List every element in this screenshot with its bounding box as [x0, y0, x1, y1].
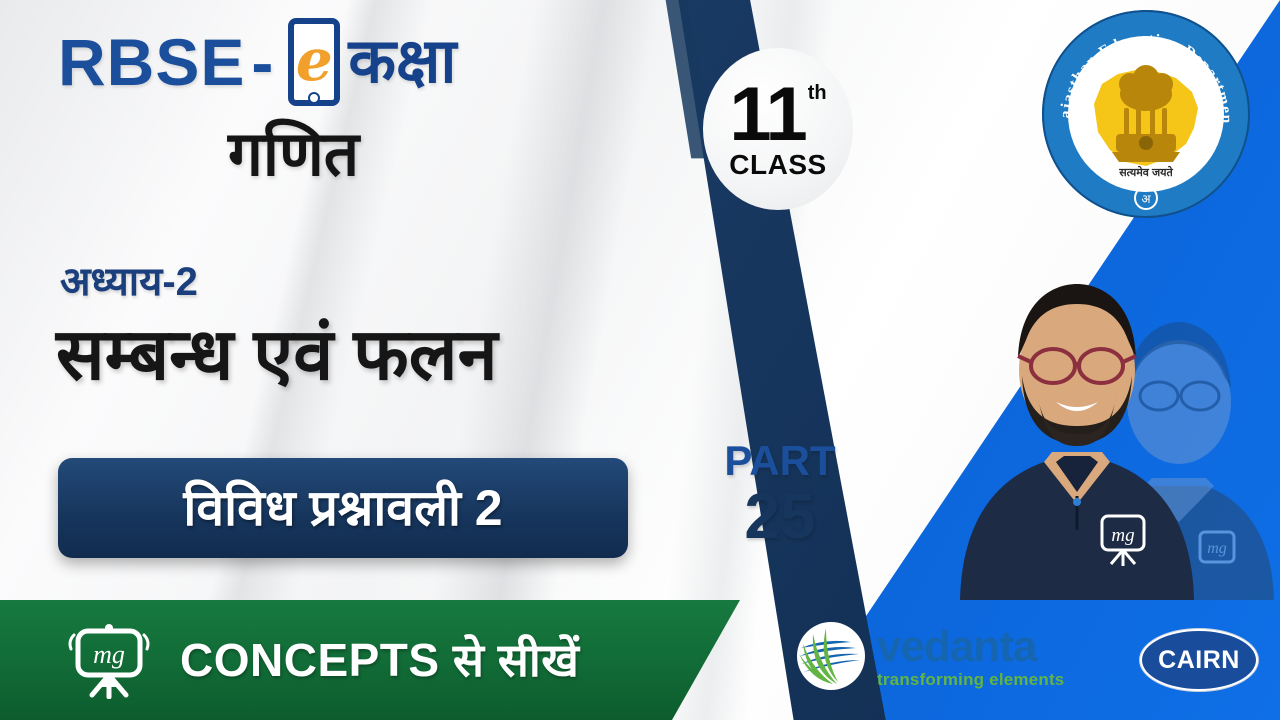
- part-label: PART: [700, 440, 860, 482]
- svg-text:mg: mg: [1111, 525, 1134, 546]
- vedanta-name: vedanta: [877, 625, 1064, 669]
- cairn-logo: CAIRN: [1140, 629, 1258, 691]
- class-word: CLASS: [729, 149, 826, 181]
- footer-tagline-hi: से सीखें: [440, 634, 580, 686]
- instructor-front-photo: mg: [952, 230, 1202, 600]
- mg-logo-text: mg: [93, 640, 125, 669]
- class-ordinal: th: [808, 83, 827, 103]
- vedanta-wordmark: vedanta transforming elements: [877, 625, 1064, 688]
- part-number: 25: [700, 484, 860, 548]
- chapter-number-label: अध्याय-2: [60, 262, 198, 302]
- emblem-svg: सत्यमेव जयते Rajasthan Education Departm…: [1040, 8, 1252, 220]
- smartphone-icon: e: [288, 18, 340, 106]
- thumbnail-canvas: RBSE - e कक्षा गणित अध्याय-2 सम्बन्ध एवं…: [0, 0, 1280, 720]
- exercise-badge-label: विविध प्रश्नावली 2: [183, 483, 502, 533]
- svg-text:mg: mg: [1207, 540, 1227, 557]
- footer-green-bar: mg CONCEPTS से सीखें: [0, 600, 760, 720]
- emblem-bottom-glyph: अ: [1141, 192, 1151, 206]
- footer-tagline: CONCEPTS से सीखें: [180, 637, 579, 683]
- part-indicator: PART 25: [700, 440, 860, 548]
- rajasthan-education-department-emblem: सत्यमेव जयते Rajasthan Education Departm…: [1040, 8, 1252, 220]
- exercise-badge: विविध प्रश्नावली 2: [58, 458, 628, 558]
- footer-tagline-en: CONCEPTS: [180, 634, 440, 686]
- class-number-row: 11 th: [729, 77, 826, 153]
- class-badge: 11 th CLASS: [703, 48, 853, 210]
- chapter-title: सम्बन्ध एवं फलन: [56, 318, 498, 394]
- brand-name-rbse: RBSE: [58, 29, 245, 95]
- instructor-photos: mg: [930, 228, 1280, 600]
- brand-separator: -: [251, 29, 274, 95]
- class-number: 11: [729, 77, 805, 153]
- mg-logo-svg: mg: [62, 621, 158, 699]
- mg-chalkboard-icon: mg: [62, 621, 158, 699]
- phone-letter-e: e: [296, 31, 333, 89]
- cairn-name: CAIRN: [1158, 646, 1240, 675]
- vedanta-logo: vedanta transforming elements: [795, 620, 1064, 692]
- brand-title-row: RBSE - e कक्षा: [58, 18, 457, 106]
- vedanta-globe-icon: [795, 620, 867, 692]
- subject-title: गणित: [228, 124, 359, 186]
- brand-name-kaksha: कक्षा: [348, 31, 456, 93]
- emblem-motto: सत्यमेव जयते: [1118, 165, 1173, 179]
- vedanta-tagline: transforming elements: [877, 671, 1064, 688]
